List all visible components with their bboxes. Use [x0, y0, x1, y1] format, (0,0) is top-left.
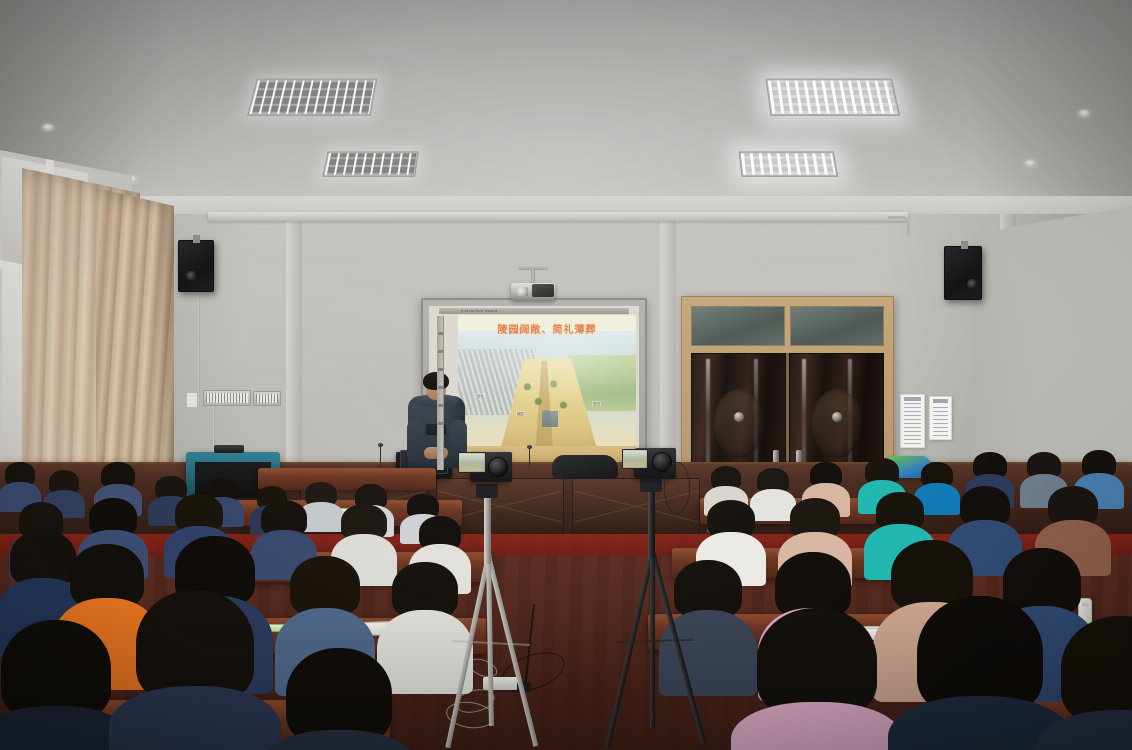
- tripod-left-column: [484, 492, 491, 564]
- camera-right-lcd-screen[interactable]: [622, 449, 648, 469]
- ceiling-light-rear-right: [739, 151, 839, 176]
- microphone-left-head: [378, 443, 383, 447]
- notice-left: [900, 394, 925, 448]
- presenter-hair: [423, 372, 449, 390]
- ceiling-dot-left: [42, 124, 54, 131]
- ceiling-light-rear-left: [322, 151, 419, 176]
- camera-left-lens: [488, 457, 508, 477]
- camera-left-lcd-screen[interactable]: [458, 452, 486, 473]
- ceiling-light-front-left: [247, 79, 377, 116]
- attendee-e4: [742, 608, 892, 750]
- attendee-e1: [0, 620, 126, 750]
- speaker-right: [944, 246, 982, 300]
- attendee-e2: [120, 590, 270, 750]
- presenter-arm-left: [407, 420, 424, 462]
- transom-pane-right: [790, 306, 884, 346]
- tripod-right-head: [640, 478, 662, 492]
- ceiling-light-front-right: [766, 79, 901, 116]
- tripod-right-column: [648, 486, 655, 558]
- transom-pane-left: [691, 306, 785, 346]
- whiteboard-brand-label: interactive board: [461, 308, 497, 313]
- equipment-stand-device: [214, 445, 244, 453]
- projector-body-shadow: [532, 284, 554, 297]
- notice-right: [929, 396, 952, 440]
- door-transom-windows: [691, 306, 884, 346]
- ceiling-right-shading: [872, 0, 1132, 214]
- wall-conduit-right: [888, 216, 910, 236]
- attendee-e6: [1046, 616, 1132, 750]
- tripod-left-head: [476, 484, 498, 498]
- microphone-right-head: [527, 445, 532, 449]
- attendee-e3: [272, 648, 406, 750]
- whiteboard-brand-strip: interactive board: [439, 308, 629, 314]
- attendee-d6: [664, 560, 752, 688]
- ceiling-dot-far-right: [1024, 160, 1036, 167]
- microphone-left-stand: [380, 446, 381, 468]
- projector-lens: [516, 287, 528, 296]
- whiteboard-side-toolbar[interactable]: [437, 316, 444, 470]
- microphone-right-stand: [529, 448, 530, 468]
- camera-right-cable: [664, 462, 690, 514]
- wall-pipe: [198, 300, 200, 392]
- speaker-left: [178, 240, 214, 292]
- wall-pilaster-right: [660, 214, 676, 472]
- radiator-left-b: [253, 391, 281, 406]
- light-switch-plate[interactable]: [186, 392, 198, 408]
- attendee-e5: [900, 596, 1060, 750]
- wall-cable-trunking: [208, 212, 908, 221]
- ceiling-dot-far-right2: [1078, 110, 1090, 117]
- bag-on-desk[interactable]: [552, 455, 618, 479]
- lecture-hall-photo: interactive board 遗址 陵园: [0, 0, 1132, 750]
- presenter-hands: [424, 447, 448, 459]
- wall-pilaster-left: [286, 214, 302, 472]
- radiator-left-a: [203, 390, 251, 406]
